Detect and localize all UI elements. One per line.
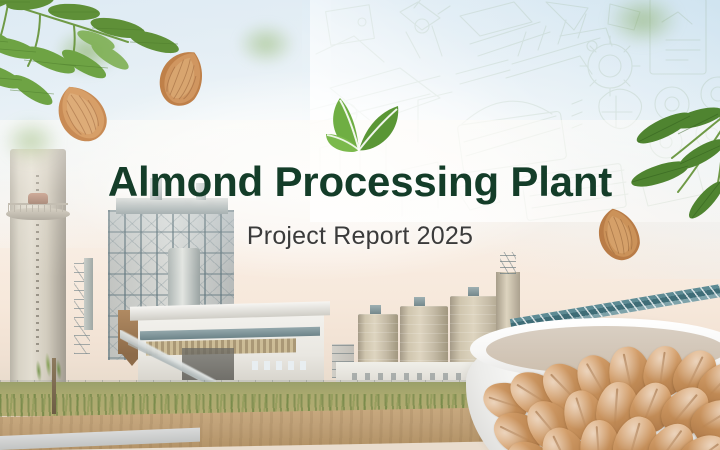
grain-silo-2-vent [414, 297, 425, 306]
page-title: Almond Processing Plant [0, 160, 720, 204]
page-subtitle: Project Report 2025 [0, 222, 720, 251]
sapling-fronds [28, 344, 71, 382]
almond-bowl-bottom-right [466, 306, 720, 450]
sapling-trunk [52, 358, 56, 414]
grain-silo-3-vent [468, 287, 479, 296]
silo-railing [8, 203, 68, 212]
leaf-trio-logo-icon [318, 92, 402, 154]
factory-hall-windows [252, 361, 312, 370]
report-cover: Almond Processing Plant Project Report 2… [0, 0, 720, 450]
thin-stack [84, 258, 93, 330]
bokeh-leaf-c-icon [606, 0, 680, 46]
bokeh-leaf-b-icon [236, 22, 296, 66]
silo-head-mast [500, 252, 516, 274]
almond-pile [480, 324, 720, 450]
grain-silo-1-vent [370, 305, 381, 314]
